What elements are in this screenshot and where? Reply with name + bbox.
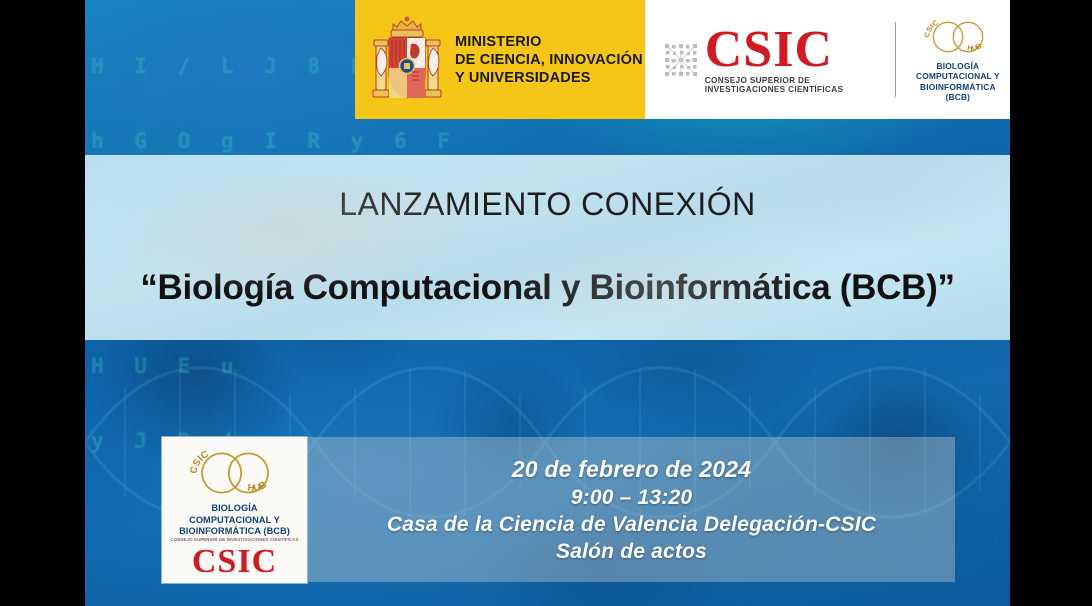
ministry-line-2: DE CIENCIA, INNOVACIÓN <box>455 51 643 69</box>
slide-viewport: H I / L J 8 H A h G O g I R y 6 F I F v … <box>0 0 1092 606</box>
logo-card-csic-wordmark: CSIC <box>192 545 277 579</box>
event-date: 20 de febrero de 2024 <box>512 456 751 483</box>
logo-card-caption: BIOLOGÍA COMPUTACIONAL Y BIOINFORMÁTICA … <box>179 503 290 538</box>
ministry-title: MINISTERIO DE CIENCIA, INNOVACIÓN Y UNIV… <box>455 33 643 87</box>
ministry-line-3: Y UNIVERSIDADES <box>455 69 643 87</box>
title-band: LANZAMIENTO CONEXIÓN “Biología Computaci… <box>85 155 1010 340</box>
ministry-line-1: MINISTERIO <box>455 33 643 51</box>
ministry-logo-block: MINISTERIO DE CIENCIA, INNOVACIÓN Y UNIV… <box>355 0 645 119</box>
bcb-csic-logo-card: CSIC HUB BIOLOGÍA COMPUTACIONAL Y BIOINF… <box>162 437 307 583</box>
csic-subtitle: CONSEJO SUPERIOR DE INVESTIGACIONES CIEN… <box>705 76 881 94</box>
event-time: 9:00 – 13:20 <box>571 486 693 510</box>
event-info-panel: 20 de febrero de 2024 9:00 – 13:20 Casa … <box>308 437 955 582</box>
event-kicker: LANZAMIENTO CONEXIÓN <box>85 186 1010 223</box>
logo-card-caption-line-1: BIOLOGÍA <box>179 503 290 515</box>
csic-lattice-icon <box>663 42 699 78</box>
bcb-hub-caption: BIOLOGÍA COMPUTACIONAL Y BIOINFORMÁTICA … <box>912 61 1004 103</box>
header-vertical-divider <box>895 22 896 97</box>
bcb-hub-logo-block: CSIC HUB BIOLOGÍA COMPUTACIONAL Y BIOINF… <box>912 0 1010 119</box>
bcb-caption-line-2: COMPUTACIONAL Y <box>912 71 1004 82</box>
letterbox-bar-left <box>0 0 85 606</box>
bcb-hub-rings-icon: CSIC HUB <box>921 17 995 57</box>
logo-card-caption-line-2: COMPUTACIONAL Y <box>179 515 290 527</box>
svg-text:CSIC: CSIC <box>188 449 210 475</box>
bcb-caption-line-1: BIOLOGÍA <box>912 61 1004 72</box>
letterbox-bar-right <box>1010 0 1092 606</box>
svg-text:HUB: HUB <box>967 41 983 53</box>
csic-wordmark: CSIC <box>705 26 881 74</box>
event-room: Salón de actos <box>556 540 707 564</box>
header-logo-band: MINISTERIO DE CIENCIA, INNOVACIÓN Y UNIV… <box>355 0 1010 119</box>
csic-wordmark-group: CSIC CONSEJO SUPERIOR DE INVESTIGACIONES… <box>705 26 881 94</box>
svg-text:CSIC: CSIC <box>922 17 940 37</box>
logo-card-csic-subtitle: CONSEJO SUPERIOR DE INVESTIGACIONES CIEN… <box>170 537 298 542</box>
event-venue: Casa de la Ciencia de Valencia Delegació… <box>387 513 876 537</box>
spain-coat-of-arms-icon <box>371 14 443 106</box>
csic-logo-block: CSIC CONSEJO SUPERIOR DE INVESTIGACIONES… <box>645 0 881 119</box>
bcb-caption-line-3: BIOINFORMÁTICA (BCB) <box>912 82 1004 103</box>
page-title: “Biología Computacional y Bioinformática… <box>85 268 1010 308</box>
presentation-slide: H I / L J 8 H A h G O g I R y 6 F I F v … <box>85 0 1010 606</box>
bcb-hub-rings-icon: CSIC HUB <box>186 446 284 500</box>
